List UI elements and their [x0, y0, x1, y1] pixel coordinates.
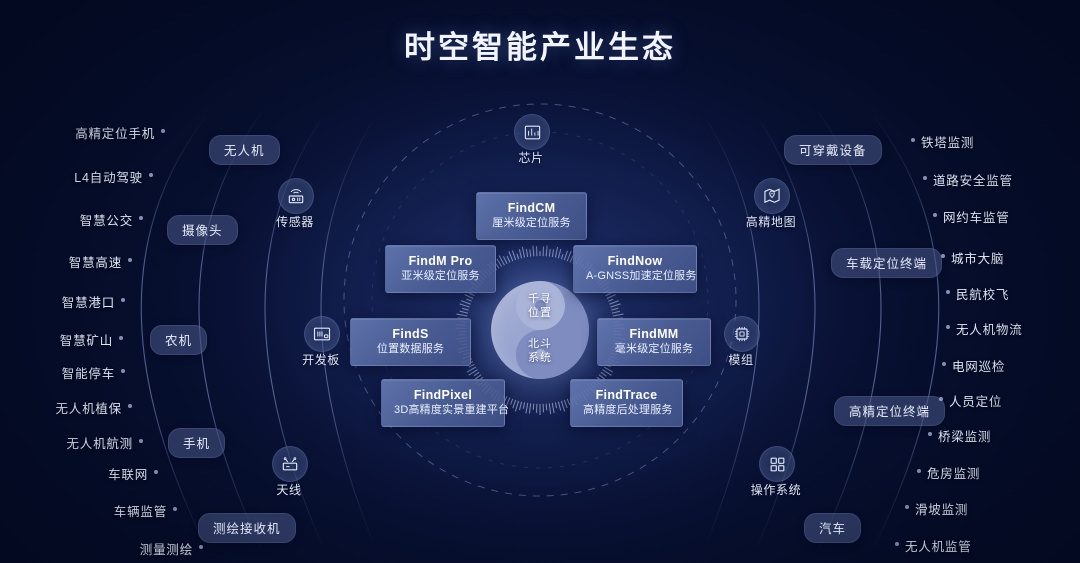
core-label-beidou: 北斗 系统: [491, 337, 589, 365]
scenario-connector-dot: [941, 254, 945, 258]
scenario-connector-dot: [923, 176, 927, 180]
scenario-connector-dot: [942, 362, 946, 366]
scenario-connector-dot: [128, 404, 132, 408]
scenario-label: 无人机航测: [66, 433, 133, 452]
product-desc: 高精度后处理服务: [583, 403, 670, 418]
scenario-connector-dot: [946, 290, 950, 294]
scenario-connector-dot: [121, 298, 125, 302]
product-desc: 厘米级定位服务: [489, 216, 574, 231]
scenario-label: 危房监测: [927, 463, 980, 482]
scenario-label: 电网巡检: [952, 356, 1005, 375]
scenario-label: 网约车监管: [943, 207, 1010, 226]
device-pill[interactable]: 农机: [150, 325, 207, 355]
core-label-line2: 位置: [491, 306, 589, 320]
scenario-connector-dot: [933, 213, 937, 217]
device-pill[interactable]: 摄像头: [167, 215, 238, 245]
scenario-label: 测量测绘: [140, 539, 193, 558]
chip-graph-icon[interactable]: [514, 114, 550, 150]
product-name: FindNow: [586, 253, 684, 269]
tech-node-label: 传感器: [235, 213, 355, 230]
scenario-label: 人员定位: [949, 391, 1002, 410]
scenario-label: 智能停车: [62, 363, 115, 382]
diagram-canvas: 时空智能产业生态 千寻 位置 北斗 系统 FindCM厘米级定位服务FindM …: [0, 0, 1080, 563]
scenario-connector-dot: [928, 432, 932, 436]
device-pill[interactable]: 汽车: [804, 513, 861, 543]
scenario-label: 桥梁监测: [938, 426, 991, 445]
scenario-connector-dot: [199, 545, 203, 549]
product-box-findm-pro[interactable]: FindM Pro亚米级定位服务: [385, 245, 496, 293]
scenario-connector-dot: [139, 439, 143, 443]
scenario-connector-dot: [946, 325, 950, 329]
chip-module-icon[interactable]: [724, 316, 760, 352]
device-pill[interactable]: 测绘接收机: [198, 513, 296, 543]
scenario-connector-dot: [149, 173, 153, 177]
scenario-connector-dot: [139, 216, 143, 220]
core-label-line3: 北斗: [491, 337, 589, 351]
scenario-connector-dot: [154, 470, 158, 474]
antenna-icon[interactable]: [272, 446, 308, 482]
product-name: FindCM: [489, 200, 574, 216]
scenario-label: 无人机物流: [956, 319, 1023, 338]
scenario-connector-dot: [128, 258, 132, 262]
device-pill[interactable]: 可穿戴设备: [784, 135, 882, 165]
product-desc: 亚米级定位服务: [398, 269, 483, 284]
product-name: FindTrace: [583, 387, 670, 403]
scenario-label: 无人机植保: [55, 398, 122, 417]
scenario-label: L4自动驾驶: [74, 167, 143, 186]
product-box-findcm[interactable]: FindCM厘米级定位服务: [476, 192, 587, 240]
product-box-findtrace[interactable]: FindTrace高精度后处理服务: [570, 379, 683, 427]
tech-node-label: 天线: [229, 481, 349, 498]
scenario-label: 无人机监管: [905, 536, 972, 555]
product-name: FindPixel: [394, 387, 492, 403]
scenario-label: 车联网: [108, 464, 148, 483]
scenario-label: 民航校飞: [956, 284, 1009, 303]
os-grid-icon[interactable]: [759, 446, 795, 482]
scenario-label: 滑坡监测: [915, 499, 968, 518]
core-label-line4: 系统: [491, 351, 589, 365]
product-name: FindM Pro: [398, 253, 483, 269]
product-desc: 3D高精度实景重建平台: [394, 403, 492, 418]
product-box-findnow[interactable]: FindNowA-GNSS加速定位服务: [573, 245, 697, 293]
tech-node-label: 开发板: [261, 351, 381, 368]
scenario-label: 高精定位手机: [75, 123, 155, 142]
dev-board-icon[interactable]: [304, 316, 340, 352]
scenario-label: 智慧高速: [69, 252, 122, 271]
scenario-connector-dot: [911, 138, 915, 142]
scenario-label: 智慧港口: [62, 292, 115, 311]
page-title: 时空智能产业生态: [0, 22, 1080, 67]
device-pill[interactable]: 车载定位终端: [831, 248, 942, 278]
scenario-connector-dot: [905, 505, 909, 509]
scenario-connector-dot: [173, 507, 177, 511]
scenario-label: 城市大脑: [951, 248, 1004, 267]
tech-node-label: 操作系统: [716, 481, 836, 498]
product-desc: A-GNSS加速定位服务: [586, 269, 684, 284]
device-pill[interactable]: 高精定位终端: [834, 396, 945, 426]
tech-node-label: 高精地图: [711, 213, 831, 230]
tech-node-label: 模组: [681, 351, 801, 368]
scenario-label: 智慧公交: [80, 210, 133, 229]
scenario-connector-dot: [121, 369, 125, 373]
core-label-qianxun: 千寻 位置: [491, 292, 589, 320]
scenario-connector-dot: [161, 129, 165, 133]
scenario-connector-dot: [895, 542, 899, 546]
product-name: FindMM: [610, 326, 698, 342]
device-pill[interactable]: 无人机: [209, 135, 280, 165]
device-pill[interactable]: 手机: [168, 428, 225, 458]
product-box-findpixel[interactable]: FindPixel3D高精度实景重建平台: [381, 379, 505, 427]
tech-node-label: 芯片: [471, 149, 591, 166]
scenario-label: 道路安全监管: [933, 170, 1013, 189]
scenario-label: 智慧矿山: [60, 330, 113, 349]
product-name: FindS: [363, 326, 458, 342]
scenario-label: 铁塔监测: [921, 132, 974, 151]
core-label-line1: 千寻: [491, 292, 589, 306]
scenario-connector-dot: [939, 397, 943, 401]
scenario-connector-dot: [917, 469, 921, 473]
map-pin-icon[interactable]: [754, 178, 790, 214]
scenario-label: 车辆监管: [114, 501, 167, 520]
sensor-icon[interactable]: [278, 178, 314, 214]
scenario-connector-dot: [119, 336, 123, 340]
